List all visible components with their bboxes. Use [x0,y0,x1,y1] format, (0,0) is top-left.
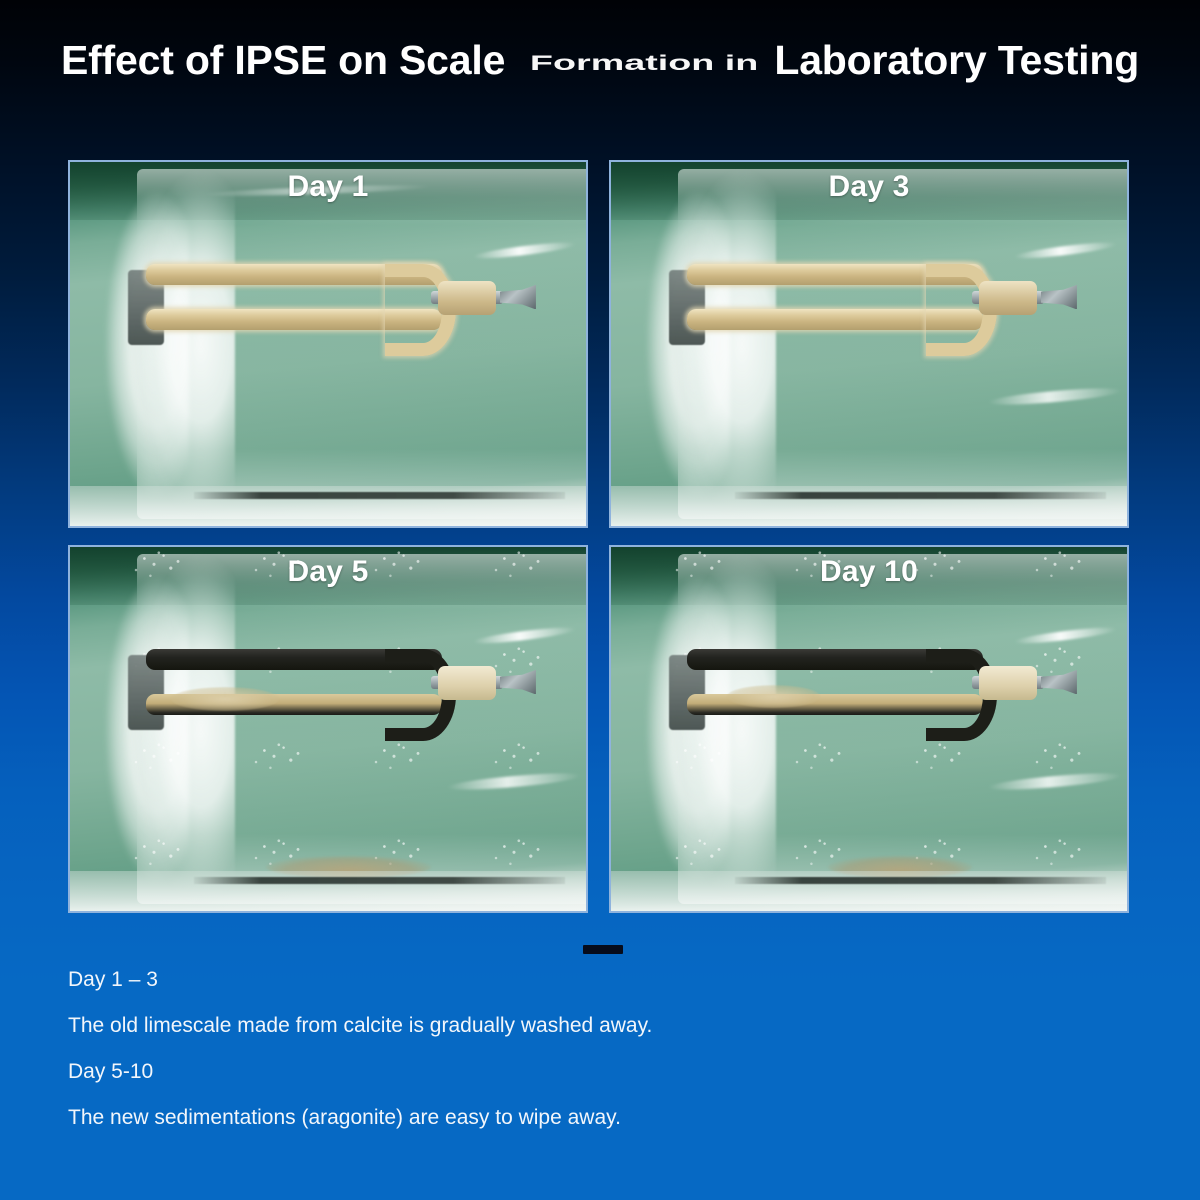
caption-block: Day 1 – 3 The old limescale made from ca… [68,968,968,1130]
heating-element [683,260,1044,355]
caption-heading-day-5-10: Day 5-10 [68,1060,968,1084]
page-title: Effect of IPSE on Scale Formation in Lab… [0,34,1200,86]
divider-dash [583,945,623,954]
tank-floor-shadow [735,877,1107,884]
caption-body-aragonite: The new sedimentations (aragonite) are e… [68,1106,968,1130]
heating-element [142,645,503,740]
photo-panel-day-5[interactable]: Day 5 [68,545,588,913]
photo-grid: Day 1 [68,160,1134,920]
photo-panel-day-1[interactable]: Day 1 [68,160,588,528]
caption-body-calcite: The old limescale made from calcite is g… [68,1014,968,1038]
element-plug [438,666,496,700]
element-plug [979,281,1037,315]
residual-scale-patch [727,685,821,708]
caption-heading-day-1-3: Day 1 – 3 [68,968,968,992]
tank-photo-day-10 [611,547,1127,911]
tank-floor-shadow [735,492,1107,499]
page-title-lead: Effect of IPSE on Scale [61,34,505,86]
photo-panel-day-10[interactable]: Day 10 [609,545,1129,913]
page-title-trail: Laboratory Testing [774,34,1139,86]
slide-root: Effect of IPSE on Scale Formation in Lab… [0,0,1200,1200]
element-plug [438,281,496,315]
heating-element [683,645,1044,740]
tank-photo-day-5 [70,547,586,911]
tank-photo-day-1 [70,162,586,526]
page-title-garbled-middle: Formation in [530,51,758,75]
tank-floor-shadow [194,492,566,499]
element-plug [979,666,1037,700]
heating-element [142,260,503,355]
tank-photo-day-3 [611,162,1127,526]
tank-floor-shadow [194,877,566,884]
photo-panel-day-3[interactable]: Day 3 [609,160,1129,528]
